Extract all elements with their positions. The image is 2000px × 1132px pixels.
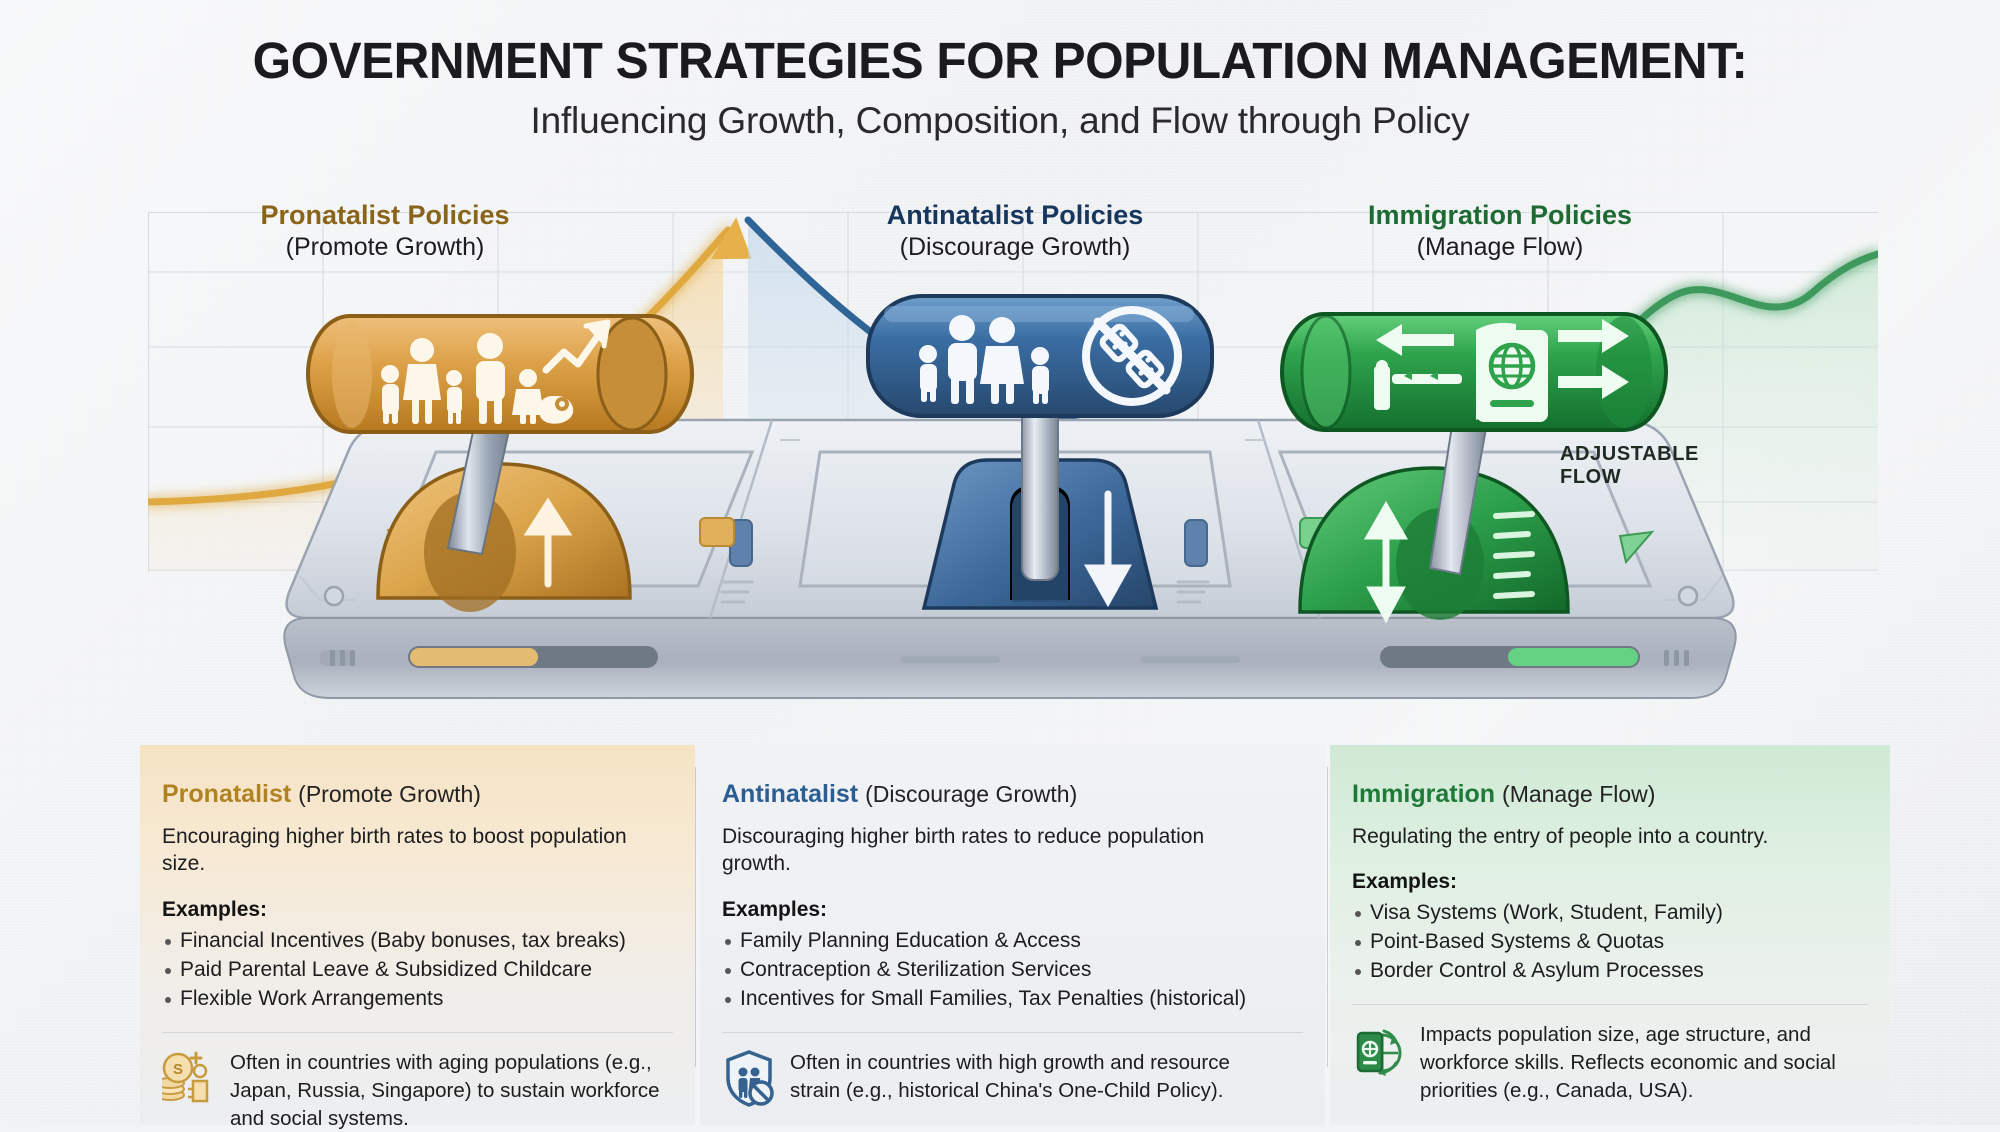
column-header-antinatalist: Antinatalist Policies (Discourage Growth… [815,200,1215,262]
panel-immigration: Immigration (Manage Flow) Regulating the… [1330,745,1890,1125]
panel-title-suffix: (Promote Growth) [298,781,481,807]
passport-globe-cycle-icon [1352,1021,1406,1079]
panel-examples-list: Family Planning Education & Access Contr… [722,927,1325,1014]
panel-footer-text: Often in countries with aging population… [230,1049,670,1132]
panel-title: Pronatalist (Promote Growth) [162,781,695,809]
column-headers: Pronatalist Policies (Promote Growth) An… [0,200,2000,290]
list-item: Financial Incentives (Baby bonuses, tax … [162,927,695,956]
panel-divider [695,767,696,1067]
list-item: Visa Systems (Work, Student, Family) [1352,899,1890,928]
panel-footer-text: Often in countries with high growth and … [790,1049,1230,1105]
column-title: Antinatalist Policies [815,200,1215,230]
shield-family-restricted-icon [722,1049,776,1107]
panel-footer-text: Impacts population size, age structure, … [1420,1021,1860,1105]
coins-family-icon: S [162,1049,216,1107]
panel-footer: S Often in countries with aging populati… [162,1049,695,1132]
antinatalist-lever[interactable] [850,268,1230,688]
page-title: GOVERNMENT STRATEGIES FOR POPULATION MAN… [30,34,1970,88]
page-subtitle: Influencing Growth, Composition, and Flo… [0,100,2000,142]
lever-shaft [1022,390,1058,580]
panel-footer: Impacts population size, age structure, … [1352,1021,1890,1105]
panel-pronatalist: Pronatalist (Promote Growth) Encouraging… [140,745,695,1125]
panel-description: Discouraging higher birth rates to reduc… [722,823,1222,878]
column-title: Immigration Policies [1300,200,1700,230]
column-header-immigration: Immigration Policies (Manage Flow) [1300,200,1700,262]
list-item: Point-Based Systems & Quotas [1352,928,1890,957]
divider [722,1032,1303,1033]
panel-title: Immigration (Manage Flow) [1352,781,1890,809]
list-item: Contraception & Sterilization Services [722,956,1325,985]
baby-icon [539,396,573,424]
panel-examples-list: Visa Systems (Work, Student, Family) Poi… [1352,899,1890,986]
panel-description: Regulating the entry of people into a co… [1352,823,1852,851]
panel-examples-label: Examples: [162,898,695,922]
panel-title-main: Antinatalist [722,780,858,808]
pronatalist-lever[interactable] [330,268,760,688]
column-title: Pronatalist Policies [185,200,585,230]
panel-examples-label: Examples: [1352,870,1890,894]
divider [162,1032,673,1033]
list-item: Incentives for Small Families, Tax Penal… [722,985,1325,1014]
divider [1352,1004,1868,1005]
panel-footer: Often in countries with high growth and … [722,1049,1325,1107]
panel-title-suffix: (Discourage Growth) [865,781,1077,807]
column-subtitle: (Manage Flow) [1300,232,1700,262]
panel-title-main: Pronatalist [162,780,291,808]
adjustable-flow-label: ADJUSTABLE FLOW [1560,443,1699,489]
list-item: Flexible Work Arrangements [162,985,695,1014]
panel-description: Encouraging higher birth rates to boost … [162,823,662,878]
panel-antinatalist: Antinatalist (Discourage Growth) Discour… [700,745,1325,1125]
passport-globe-icon [1476,323,1548,422]
svg-text:S: S [173,1061,183,1078]
column-header-pronatalist: Pronatalist Policies (Promote Growth) [185,200,585,262]
panel-examples-list: Financial Incentives (Baby bonuses, tax … [162,927,695,1014]
panel-title-main: Immigration [1352,780,1495,808]
list-item: Paid Parental Leave & Subsidized Childca… [162,956,695,985]
panel-title: Antinatalist (Discourage Growth) [722,781,1325,809]
list-item: Border Control & Asylum Processes [1352,957,1890,986]
header: GOVERNMENT STRATEGIES FOR POPULATION MAN… [0,34,2000,142]
panel-divider [1327,767,1328,1067]
column-subtitle: (Promote Growth) [185,232,585,262]
panel-title-suffix: (Manage Flow) [1502,781,1655,807]
detail-panels: Pronatalist (Promote Growth) Encouraging… [0,745,2000,1125]
column-subtitle: (Discourage Growth) [815,232,1215,262]
list-item: Family Planning Education & Access [722,927,1325,956]
panel-examples-label: Examples: [722,898,1325,922]
